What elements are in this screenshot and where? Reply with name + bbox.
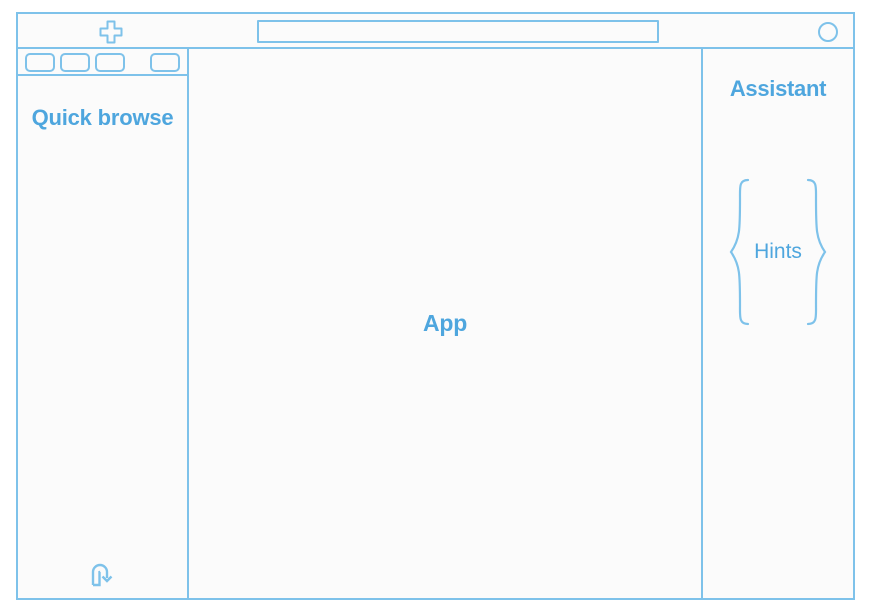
sidebar-panel: Quick browse [18,49,189,598]
address-bar[interactable] [257,20,659,43]
assistant-title: Assistant [703,76,853,102]
plus-icon[interactable] [98,19,124,45]
hints-group: Hints [703,177,853,327]
app-label: App [423,310,467,337]
wireframe-canvas: Quick browse App Assistant [0,0,879,616]
assistant-panel: Assistant Hints [703,49,853,598]
tab-chip-3[interactable] [95,53,125,72]
circle-avatar-icon[interactable] [818,22,838,42]
tab-chip-2[interactable] [60,53,90,72]
u-turn-arrow-icon[interactable] [88,560,118,588]
search-input[interactable] [259,22,657,41]
tab-chip-1[interactable] [25,53,55,72]
sidebar-body: Quick browse [18,76,187,598]
top-bar [18,14,853,49]
hints-label: Hints [752,240,804,264]
main-app-panel: App [189,49,703,598]
brace-right-icon [804,177,830,327]
window-frame: Quick browse App Assistant [16,12,855,600]
content-area: Quick browse App Assistant [18,49,853,598]
tab-chip-4[interactable] [150,53,180,72]
sidebar-tab-strip [18,49,187,76]
sidebar-title: Quick browse [18,104,187,132]
brace-left-icon [726,177,752,327]
